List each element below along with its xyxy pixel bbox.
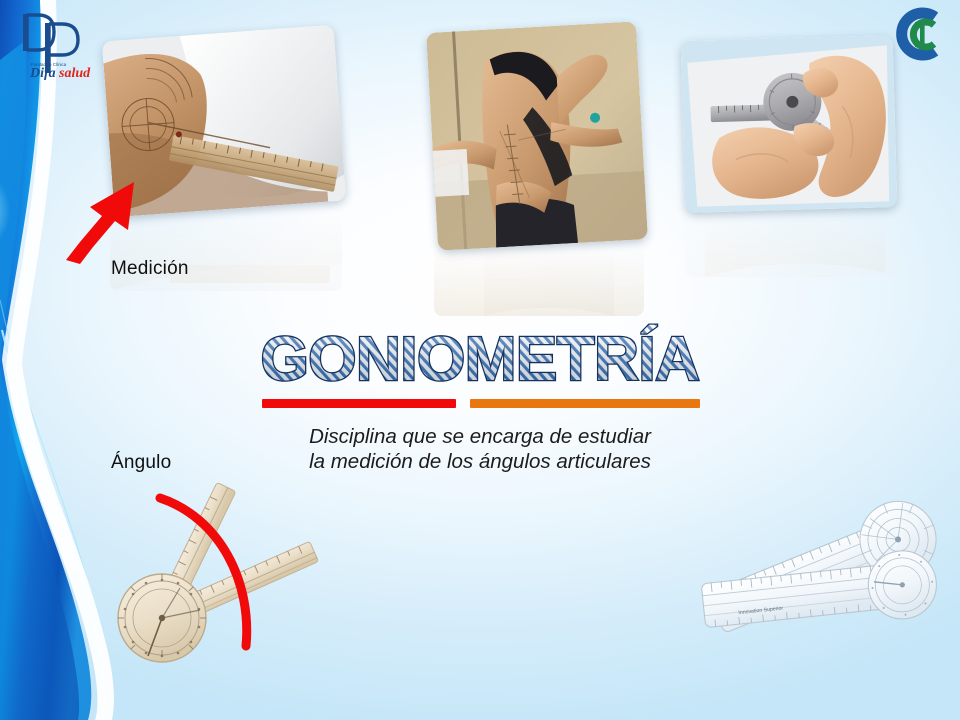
photo-shoulder-measurement — [426, 21, 648, 250]
page-title-shade: GONIOMETRÍA — [261, 325, 700, 394]
photo-shoulder-reflection — [434, 246, 644, 316]
title-underline-red — [262, 399, 456, 408]
illustration-goniometers-pair: Innovation Superior — [685, 455, 950, 660]
logo-difasalud: Fundación Clínica Difa salud — [18, 6, 98, 82]
illustration-goniometer-angle — [100, 470, 340, 675]
logo-wordmark-accent: salud — [58, 66, 91, 81]
subtitle-line-1: Disciplina que se encarga de estudiar — [0, 424, 960, 449]
slide-canvas: Fundación Clínica Difa salud — [0, 0, 960, 720]
title-underline-orange — [470, 399, 700, 408]
photo-hands-reflection — [685, 211, 897, 277]
label-medicion: Medición — [111, 258, 189, 280]
logo-cci — [889, 5, 951, 63]
arrow-medicion-icon — [62, 176, 152, 264]
photo-hands-goniometer — [681, 35, 898, 213]
logo-wordmark-dark: Difa — [29, 66, 56, 81]
title-block: GONIOMETRÍA GONIOMETRÍA — [0, 320, 960, 398]
